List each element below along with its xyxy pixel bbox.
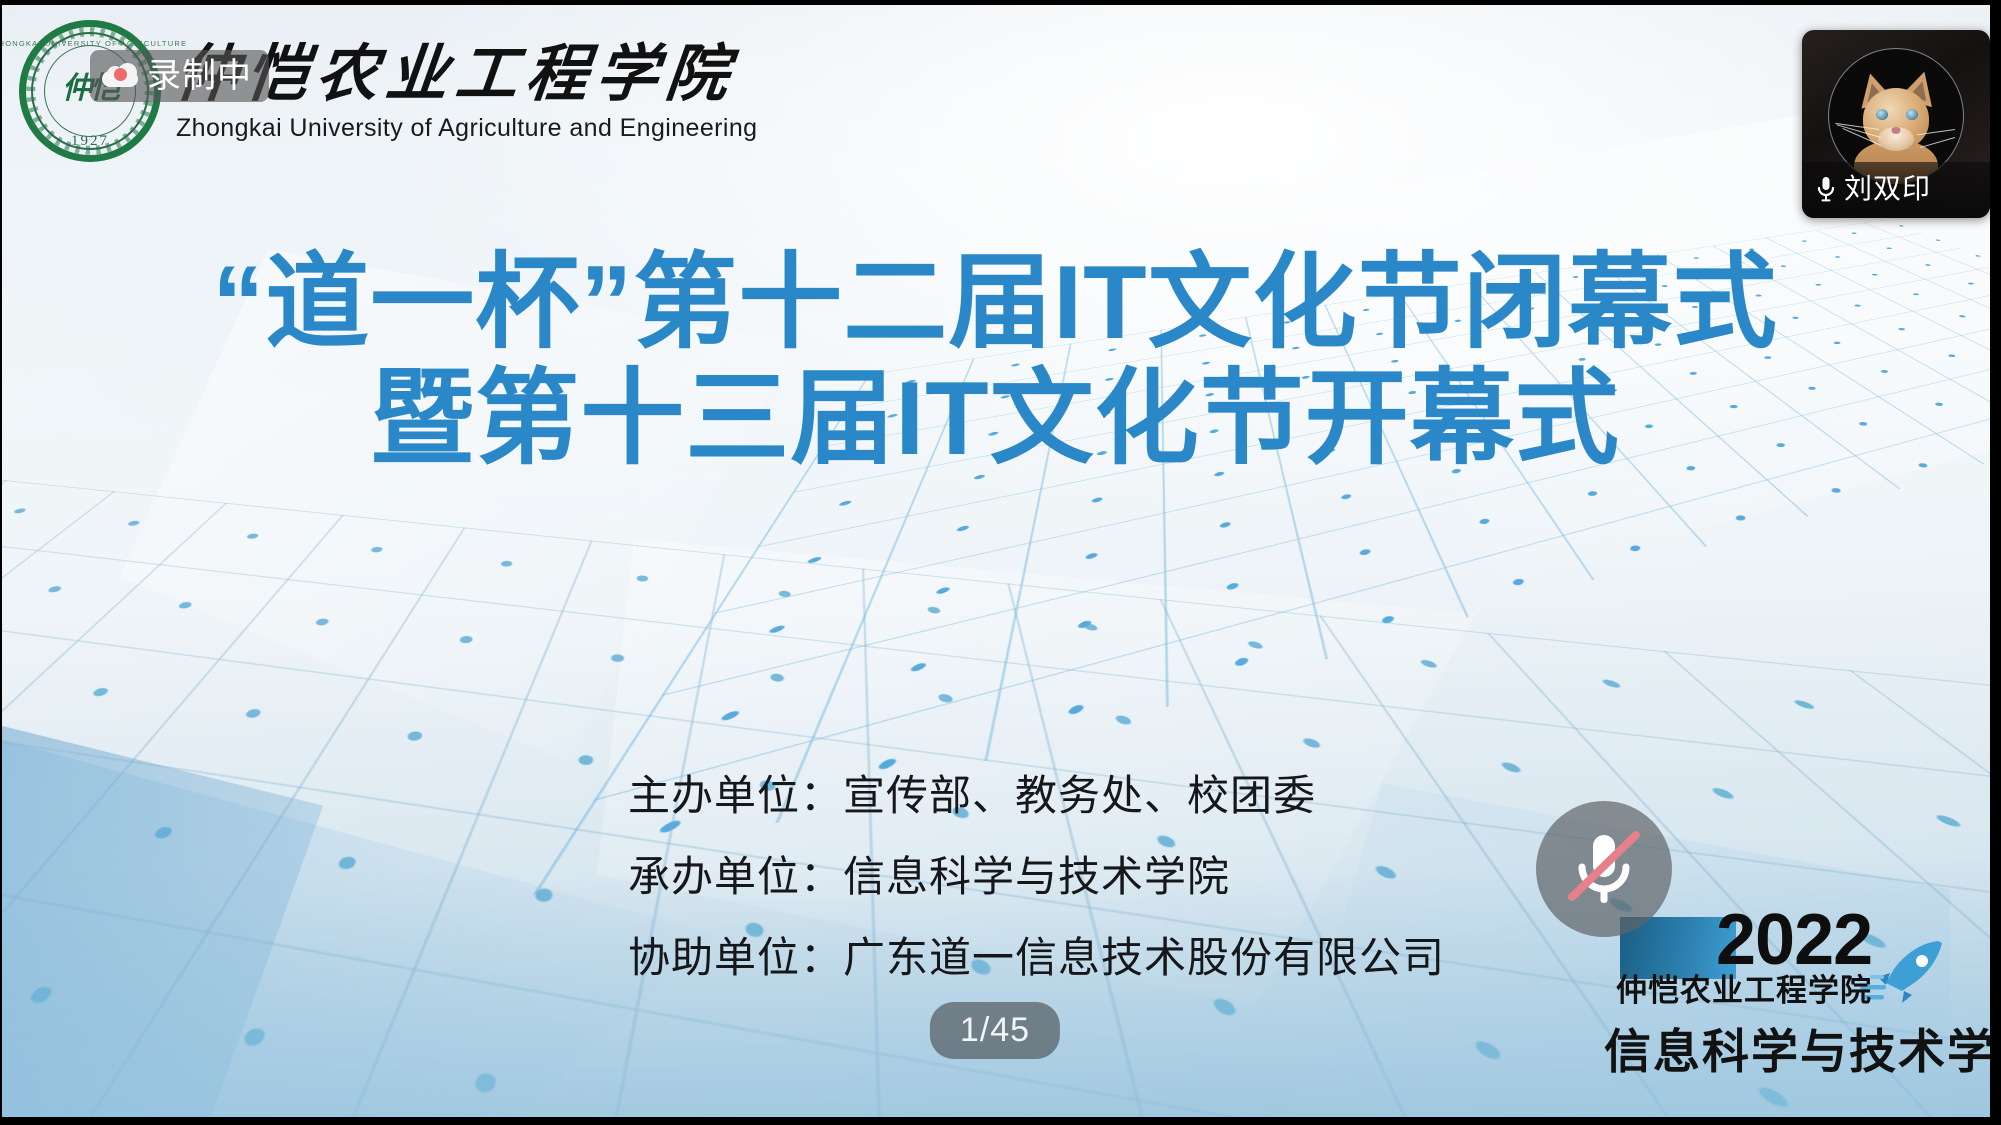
meeting-screen: ZHONGKAI UNIVERSITY OF AGRICULTURE 仲恺 19… [0,0,2001,1125]
slide-title: “道一杯”第十二届IT文化节闭幕式 暨第十三届IT文化节开幕式 [0,245,1990,478]
shared-slide[interactable]: ZHONGKAI UNIVERSITY OF AGRICULTURE 仲恺 19… [0,5,1990,1117]
microphone-muted-icon[interactable] [1536,801,1672,937]
page-indicator[interactable]: 1/45 [930,1002,1060,1059]
organizer-list: 主办单位：宣传部、教务处、校团委 承办单位：信息科学与技术学院 协助单位：广东道… [628,762,1445,985]
festival-university-name: 仲恺农业工程学院 [1616,965,1872,1010]
seal-arc-text: ZHONGKAI UNIVERSITY OF AGRICULTURE [0,39,187,48]
recording-label: 录制中 [147,59,252,93]
screen-border-bottom [0,1117,2001,1125]
title-line-2: 暨第十三届IT文化节开幕式 [0,361,1990,477]
title-line-1: “道一杯”第十二届IT文化节闭幕式 [0,245,1990,361]
recording-badge: 录制中 [90,50,269,102]
screen-border-right [1990,0,2001,1125]
organizer-row-organizer: 承办单位：信息科学与技术学院 [628,843,1445,904]
organizer-row-host: 主办单位：宣传部、教务处、校团委 [628,762,1445,823]
participant-name: 刘双印 [1844,175,1931,203]
participant-video-tile[interactable]: 刘双印 [1802,30,1990,218]
video-tile-footer: 刘双印 [1802,162,1990,218]
festival-college-name: 信息科学与技术学院 [1604,1013,1990,1082]
organizer-row-supporter: 协助单位：广东道一信息技术股份有限公司 [628,924,1445,985]
rocket-icon [1860,933,1952,1005]
cloud-record-icon [102,63,138,89]
school-name-en: Zhongkai University of Agriculture and E… [176,114,757,143]
bg-facet [0,739,716,1117]
microphone-icon [1816,176,1836,202]
seal-year: 1927 [71,133,109,150]
